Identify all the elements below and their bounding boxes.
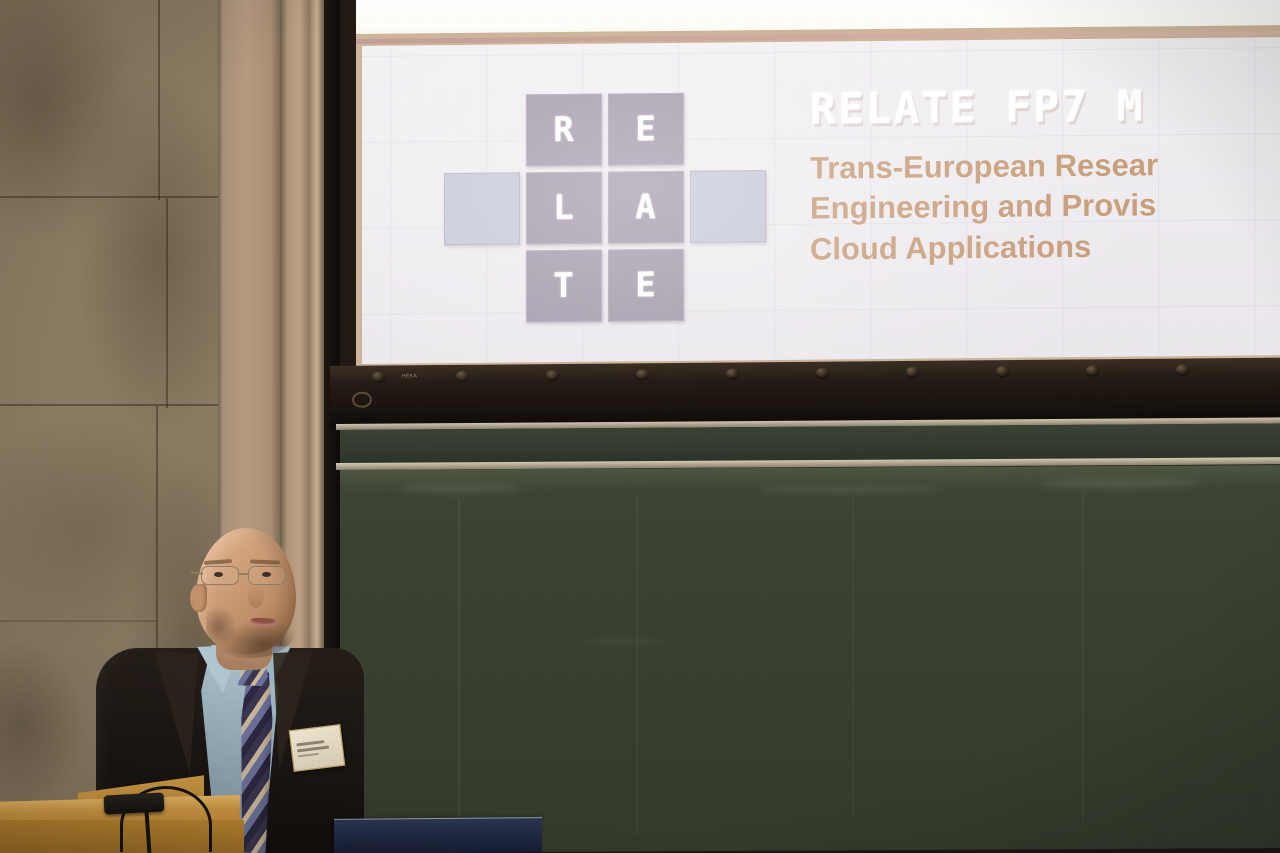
presentation-photo: R E L A T E (0, 0, 1280, 853)
ear (190, 584, 207, 612)
eyeglass-lens-right (248, 566, 286, 585)
microphone-base (104, 792, 165, 814)
laptop[interactable] (334, 817, 542, 853)
name-badge-line-2 (297, 746, 329, 753)
eyeglass-lens-left (201, 566, 239, 585)
nose (248, 584, 264, 608)
name-badge-line-3 (298, 753, 319, 758)
presenter (0, 0, 1280, 853)
eyeglasses (196, 566, 300, 586)
eyeglass-bridge (239, 573, 248, 575)
jacket-lapel-left (146, 651, 198, 774)
eyeglass-temple (191, 571, 203, 574)
name-badge (289, 724, 346, 772)
